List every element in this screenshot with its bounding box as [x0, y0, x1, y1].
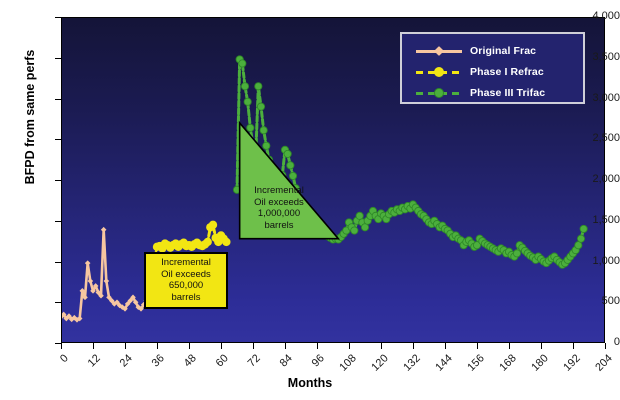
data-point-marker — [244, 98, 251, 105]
y-tick-mark — [55, 180, 61, 181]
legend-marker — [434, 67, 444, 77]
series-original-frac — [58, 227, 152, 323]
data-point-marker — [596, 0, 603, 4]
y-tick-mark — [55, 262, 61, 263]
data-point-marker — [585, 0, 592, 4]
x-tick-mark — [445, 343, 446, 349]
y-tick-mark — [55, 139, 61, 140]
data-point-marker — [287, 162, 294, 169]
y-tick-label: 2,500 — [564, 133, 620, 144]
data-point-marker — [209, 221, 217, 229]
legend-item-phase-i-refrac[interactable]: Phase I Refrac — [416, 61, 583, 82]
green-callout-text: Incremental Oil exceeds 1,000,000 barrel… — [240, 185, 318, 231]
y-tick-label: 2,000 — [564, 174, 620, 185]
x-tick-mark — [189, 343, 190, 349]
x-tick-mark — [509, 343, 510, 349]
data-point-marker — [580, 225, 587, 232]
data-point-marker — [257, 103, 264, 110]
data-point-marker — [203, 238, 211, 246]
legend-swatch-phase-iii-trifac — [416, 86, 462, 100]
x-tick-mark — [317, 343, 318, 349]
y-tick-mark — [55, 17, 61, 18]
callout-line: barrels — [148, 292, 224, 304]
data-point-marker — [588, 0, 595, 4]
callout-line: Incremental — [240, 185, 318, 197]
data-point-marker — [577, 235, 584, 242]
data-point-marker — [255, 83, 262, 90]
data-point-marker — [591, 0, 598, 4]
chart-figure: 05001,0001,5002,0002,5003,0003,5004,0000… — [0, 0, 620, 400]
legend-swatch-original-frac — [416, 44, 462, 58]
legend-label-phase-iii-trifac: Phase III Trifac — [470, 87, 545, 99]
data-point-marker — [593, 0, 600, 4]
x-tick-mark — [285, 343, 286, 349]
data-point-marker — [85, 260, 91, 266]
data-point-marker — [239, 60, 246, 67]
data-point-marker — [247, 124, 254, 131]
legend-marker — [434, 46, 444, 56]
callout-line: Incremental — [148, 257, 224, 269]
data-point-marker — [351, 227, 358, 234]
data-point-marker — [583, 0, 590, 4]
y-tick-label: 1,000 — [564, 256, 620, 267]
y-tick-label: 500 — [564, 296, 620, 307]
data-point-marker — [222, 238, 230, 246]
y-tick-mark — [55, 302, 61, 303]
y-axis-title: BFPD from same perfs — [23, 32, 37, 202]
y-tick-mark — [55, 58, 61, 59]
data-point-marker — [289, 172, 296, 179]
x-tick-mark — [61, 343, 62, 349]
x-tick-mark — [605, 343, 606, 349]
x-tick-mark — [541, 343, 542, 349]
data-point-marker — [241, 83, 248, 90]
data-point-marker — [88, 278, 94, 284]
x-tick-mark — [221, 343, 222, 349]
x-axis-title: Months — [0, 376, 620, 390]
data-point-marker — [263, 142, 270, 149]
legend-item-original-frac[interactable]: Original Frac — [416, 40, 583, 61]
chart-legend: Original Frac Phase I Refrac Phase III T… — [400, 32, 585, 104]
callout-line: Oil exceeds — [240, 197, 318, 209]
callout-line: barrels — [240, 220, 318, 232]
legend-label-phase-i-refrac: Phase I Refrac — [470, 66, 544, 78]
x-tick-mark — [349, 343, 350, 349]
data-point-marker — [104, 278, 110, 284]
x-tick-mark — [157, 343, 158, 349]
x-tick-mark — [253, 343, 254, 349]
data-point-marker — [599, 0, 606, 4]
y-tick-mark — [55, 221, 61, 222]
data-point-marker — [513, 250, 520, 257]
y-tick-label: 4,000 — [564, 11, 620, 22]
legend-item-phase-iii-trifac[interactable]: Phase III Trifac — [416, 82, 583, 103]
data-point-marker — [101, 227, 107, 233]
callout-line: 650,000 — [148, 280, 224, 292]
x-tick-mark — [93, 343, 94, 349]
legend-swatch-phase-i-refrac — [416, 65, 462, 79]
legend-label-original-frac: Original Frac — [470, 45, 536, 57]
y-tick-mark — [55, 99, 61, 100]
data-point-marker — [284, 150, 291, 157]
y-tick-label: 1,500 — [564, 215, 620, 226]
x-tick-mark — [413, 343, 414, 349]
data-point-marker — [260, 127, 267, 134]
x-tick-mark — [125, 343, 126, 349]
x-tick-mark — [573, 343, 574, 349]
callout-line: Oil exceeds — [148, 269, 224, 281]
data-point-marker — [601, 0, 608, 4]
x-tick-mark — [381, 343, 382, 349]
x-tick-mark — [477, 343, 478, 349]
callout-line: 1,000,000 — [240, 208, 318, 220]
yellow-callout-box: Incremental Oil exceeds 650,000 barrels — [144, 252, 228, 309]
legend-marker — [434, 88, 444, 98]
